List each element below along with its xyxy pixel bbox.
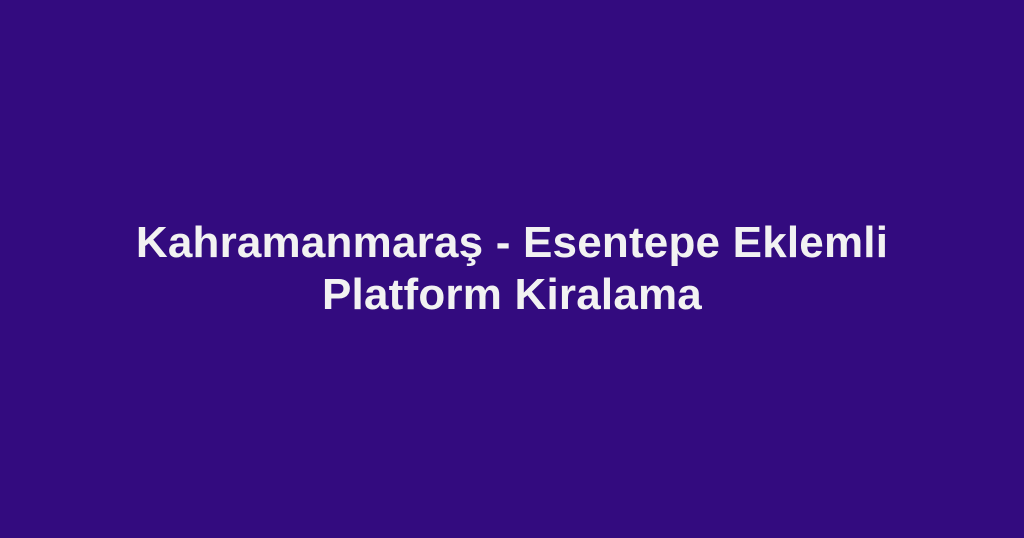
title-container: Kahramanmaraş - Esentepe Eklemli Platfor… — [102, 217, 922, 321]
hero-banner: Kahramanmaraş - Esentepe Eklemli Platfor… — [0, 0, 1024, 538]
page-title: Kahramanmaraş - Esentepe Eklemli Platfor… — [102, 217, 922, 321]
